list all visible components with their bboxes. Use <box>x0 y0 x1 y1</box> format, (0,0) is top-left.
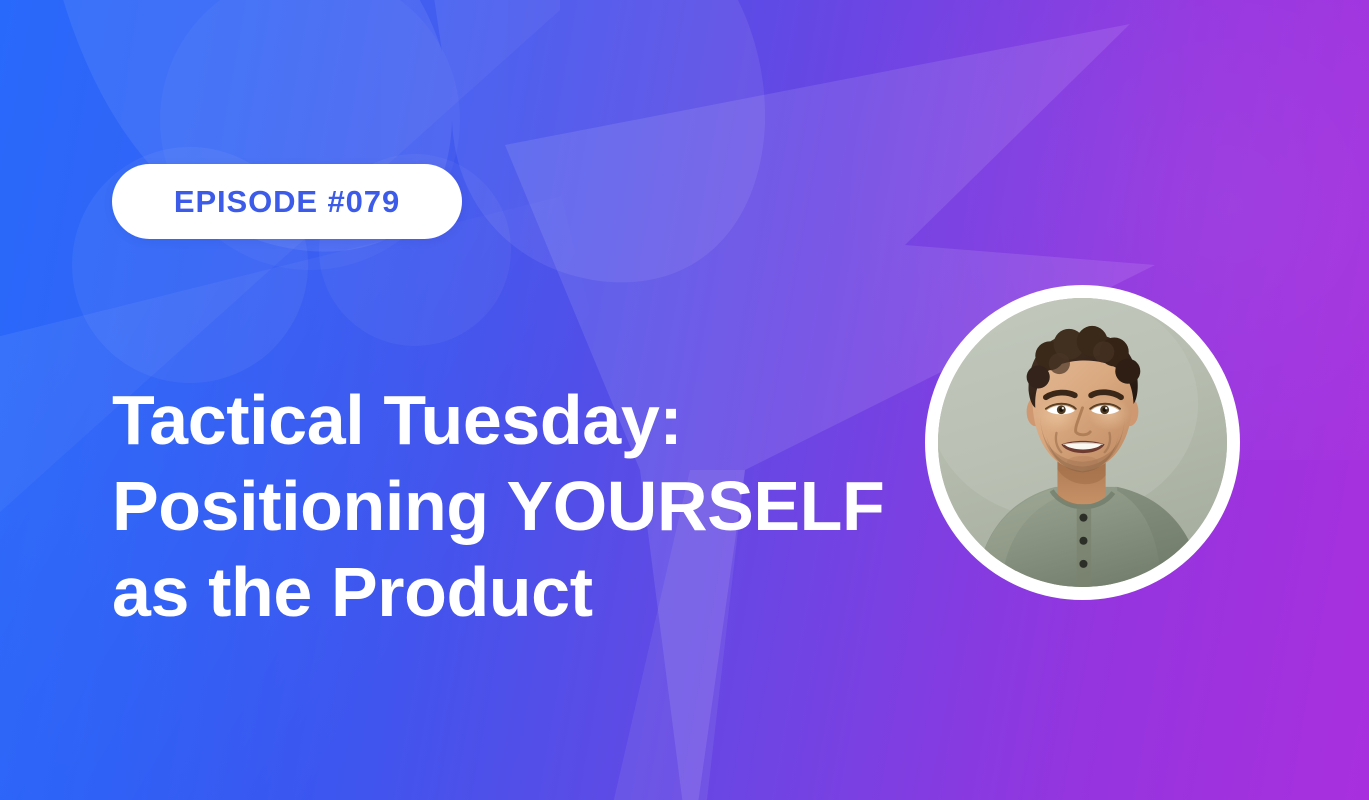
episode-title-line-3: as the Product <box>112 549 892 635</box>
host-portrait-photo <box>938 298 1227 587</box>
host-portrait <box>925 285 1240 600</box>
episode-title-line-2: Positioning YOURSELF <box>112 463 892 549</box>
podcast-episode-cover: EPISODE #079 Tactical Tuesday: Positioni… <box>0 0 1369 800</box>
episode-title: Tactical Tuesday: Positioning YOURSELF a… <box>112 377 892 635</box>
host-portrait-image-frame <box>938 298 1227 587</box>
episode-title-line-1: Tactical Tuesday: <box>112 377 892 463</box>
cover-content: EPISODE #079 Tactical Tuesday: Positioni… <box>0 0 1369 800</box>
episode-badge: EPISODE #079 <box>112 164 462 239</box>
episode-badge-label: EPISODE #079 <box>174 186 400 217</box>
